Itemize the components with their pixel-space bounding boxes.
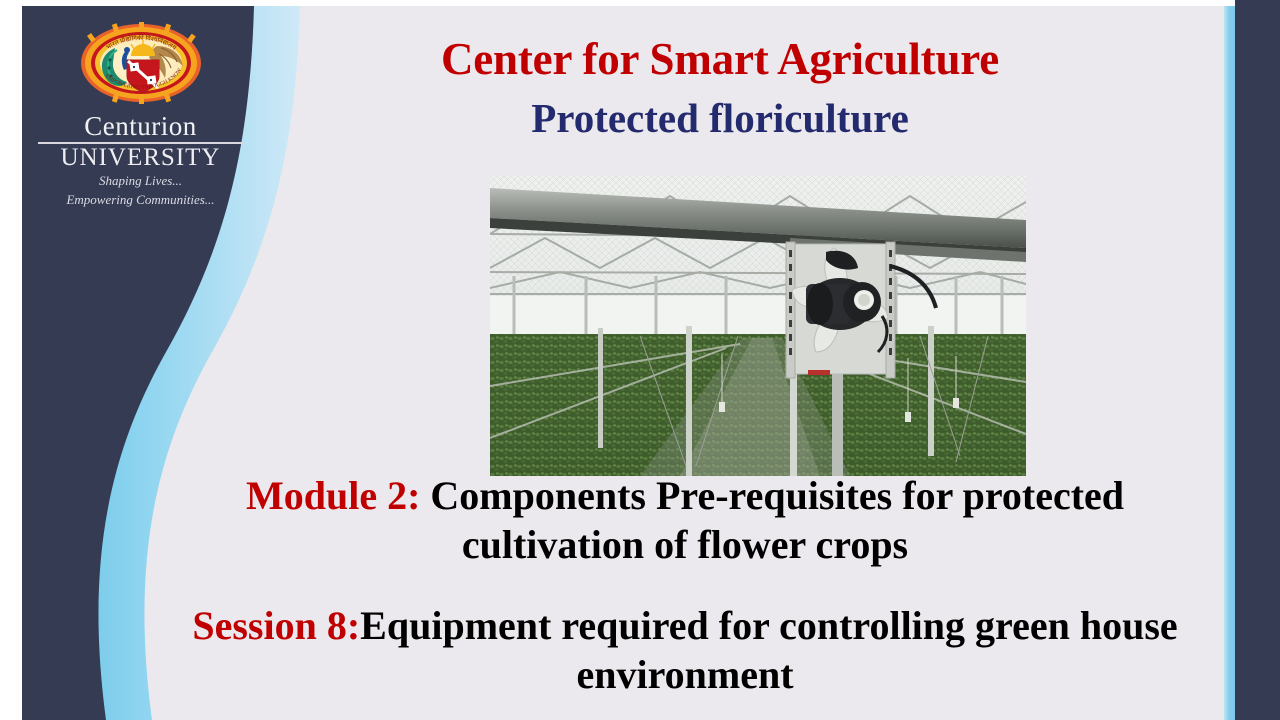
brand-tagline-line1: Shaping Lives...: [38, 173, 243, 189]
module-label: Module 2:: [246, 473, 420, 518]
university-brand: भारत प्रौद्योगिकी विश्वविद्यालय: [38, 22, 243, 208]
brand-sub-name: UNIVERSITY: [38, 145, 243, 171]
university-crest-icon: भारत प्रौद्योगिकी विश्वविद्यालय: [65, 22, 217, 104]
brand-tagline-line2: Empowering Communities...: [38, 192, 243, 208]
slide-subtitle: Protected floriculture: [250, 97, 1190, 140]
greenhouse-photo: [490, 176, 1026, 476]
module-text: Components Pre-requisites for protected …: [420, 473, 1124, 567]
module-heading: Module 2: Components Pre-requisites for …: [180, 472, 1190, 570]
session-text: Equipment required for controlling green…: [360, 603, 1177, 697]
right-edge-navy-band: [1235, 0, 1280, 720]
session-heading: Session 8:Equipment required for control…: [180, 602, 1190, 700]
brand-name: Centurion: [38, 113, 243, 144]
right-edge-blue-band: [1224, 6, 1235, 720]
session-label: Session 8:: [192, 603, 360, 648]
slide-title: Center for Smart Agriculture: [250, 36, 1190, 83]
presentation-slide: भारत प्रौद्योगिकी विश्वविद्यालय: [0, 0, 1280, 720]
